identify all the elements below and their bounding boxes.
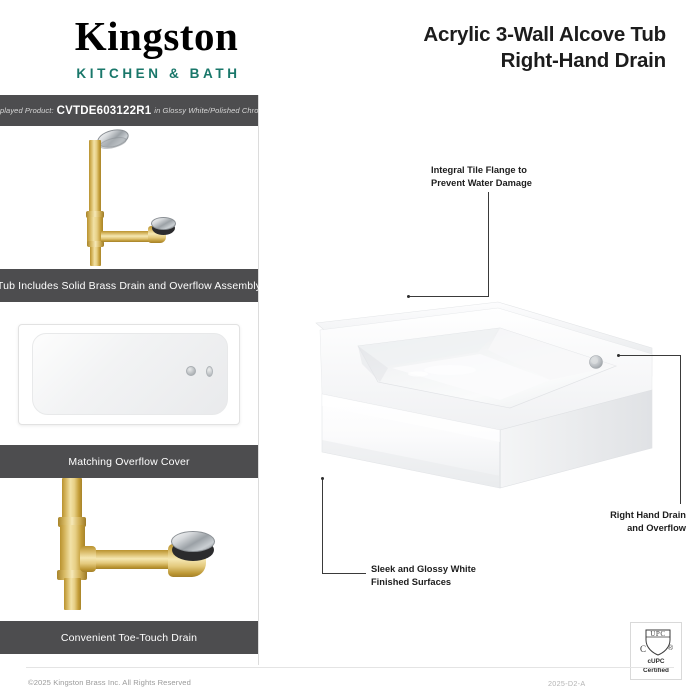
brass-vertical-tube [89,140,101,215]
toe-touch-drain-cap-icon [151,217,176,230]
footer-divider [26,667,674,668]
cert-label-line1: cUPC [647,658,664,666]
svg-text:UPC: UPC [650,630,665,638]
brand-tagline: KITCHEN & BATH [28,66,285,81]
sidebar-divider [258,95,259,665]
callout-tile-flange-line2: Prevent Water Damage [431,177,532,190]
brass-horizontal-run [101,231,153,242]
displayed-product-banner: Displayed Product: CVTDE603122R1 in Glos… [0,95,258,126]
callout-glossy-white-line1: Sleek and Glossy White [371,563,476,576]
sku-prefix-label: Displayed Product: [0,106,54,115]
page-title-line1: Acrylic 3-Wall Alcove Tub [285,22,666,48]
callout-label-tile-flange: Integral Tile Flange to Prevent Water Da… [431,164,532,190]
brand-logo: Kingston KITCHEN & BATH [0,0,285,81]
panel-caption-brass-drain-assembly: Tub Includes Solid Brass Drain and Overf… [0,269,258,302]
toe-touch-drain-cap-closeup-icon [171,531,215,552]
page-title-line2: Right-Hand Drain [285,48,666,74]
tub-overflow-opening-icon [206,366,213,377]
callout-right-hand-drain-line2: and Overflow [604,522,686,535]
leader-dot-tile-flange [407,295,410,298]
leader-dot-right-hand-drain [617,354,620,357]
cert-registered-mark: ® [668,645,673,652]
cupc-certification-badge: UPC C ® cUPC Certified [630,622,682,680]
callout-label-glossy-white: Sleek and Glossy White Finished Surfaces [371,563,476,589]
leader-line-glossy-white-vertical [322,478,323,574]
cert-label-line2: Certified [643,667,669,675]
panel-image-brass-drain-assembly [0,126,258,269]
leader-line-tile-flange-vertical [488,192,489,297]
brass-lower-stub-closeup [64,578,81,610]
page-header: Kingston KITCHEN & BATH Acrylic 3-Wall A… [0,0,700,88]
tub-drain-opening-icon [186,366,196,376]
brass-lower-stub [90,244,101,266]
callout-tile-flange-line1: Integral Tile Flange to [431,164,532,177]
leader-line-right-hand-drain-vertical [680,356,681,504]
panel-caption-toe-touch-drain: Convenient Toe-Touch Drain [0,621,258,654]
sku-code: CVTDE603122R1 [57,105,152,117]
document-date-code: 2025-D2-A [548,679,585,688]
panel-image-tub-top-view [0,302,258,445]
panel-image-toe-touch-drain [0,478,258,621]
acrylic-alcove-tub-3d-render [300,290,656,505]
leader-line-glossy-white-horizontal [322,573,366,574]
sku-finish-label: in Glossy White/Polished Chrome [154,106,258,115]
brass-tee-outlet-closeup [80,546,96,572]
brand-name: Kingston [28,16,285,57]
brass-horizontal-run-closeup [84,550,174,569]
callout-right-hand-drain-line1: Right Hand Drain [604,509,686,522]
tub-basin-interior [32,333,228,415]
cert-c-prefix: C [640,644,646,654]
callout-label-right-hand-drain: Right Hand Drain and Overflow [604,509,686,535]
leader-dot-glossy-white [321,477,324,480]
upc-shield-icon: UPC C ® [639,627,673,657]
product-feature-sidebar: Displayed Product: CVTDE603122R1 in Glos… [0,95,258,654]
brass-vertical-tube-closeup [62,478,82,522]
leader-line-tile-flange-horizontal [409,296,489,297]
panel-caption-matching-overflow-cover: Matching Overflow Cover [0,445,258,478]
leader-line-right-hand-drain-horizontal [619,355,681,356]
copyright-text: ©2025 Kingston Brass Inc. All Rights Res… [28,678,191,687]
callout-glossy-white-line2: Finished Surfaces [371,576,476,589]
page-title: Acrylic 3-Wall Alcove Tub Right-Hand Dra… [285,0,700,74]
